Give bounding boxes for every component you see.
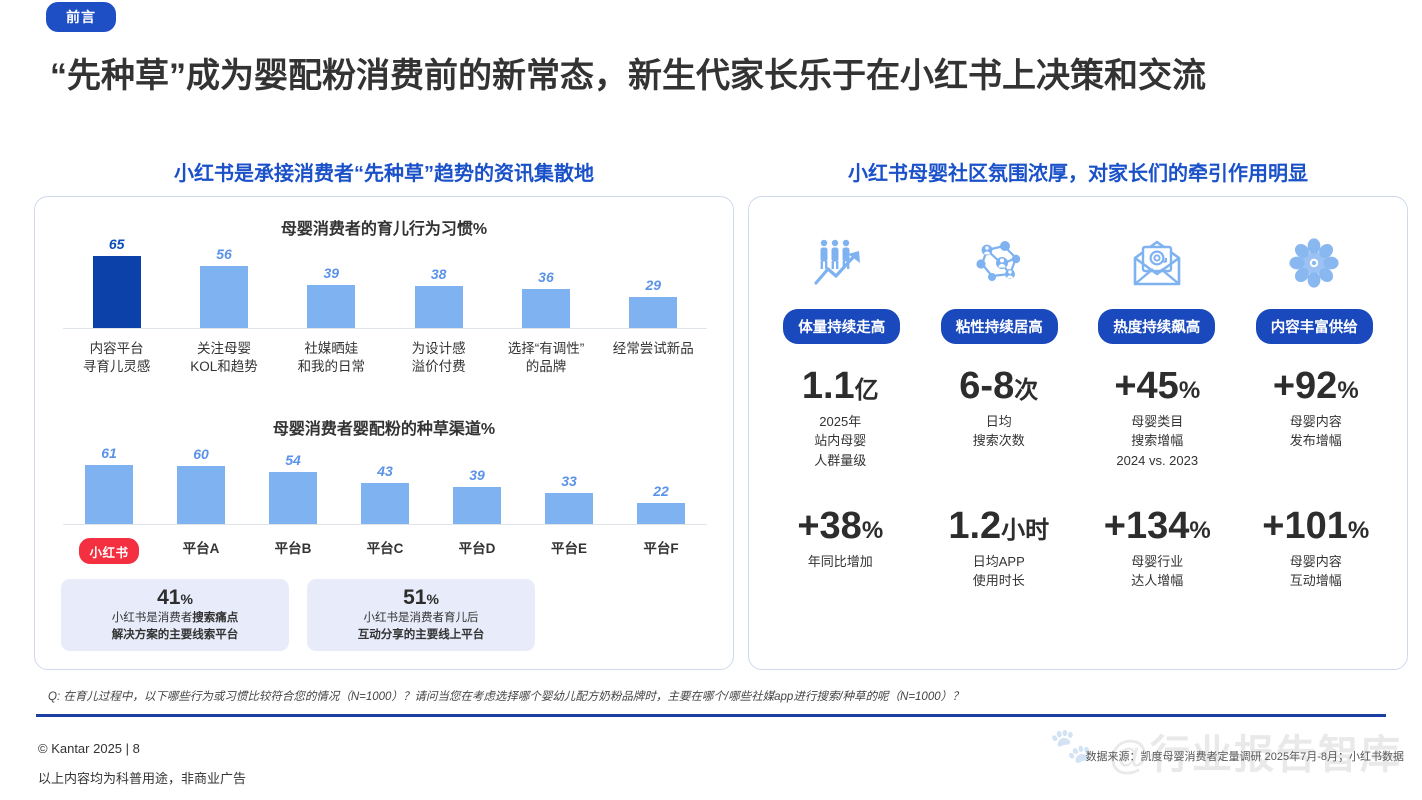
- pill-cell: 内容丰富供给: [1236, 309, 1394, 344]
- chart1-bar-value: 65: [109, 236, 125, 252]
- chart2-bar: [637, 503, 685, 525]
- chart2-labels-area: 小红书平台A平台B平台C平台D平台E平台F: [35, 533, 735, 567]
- chart2-category-label: 平台E: [551, 540, 587, 558]
- stat-row: +38%年同比增加1.2小时日均APP使用时长+134%母婴行业达人增幅+101…: [761, 507, 1395, 647]
- network-nodes-icon: [921, 231, 1079, 295]
- stat-subtitle: 日均APP使用时长: [920, 552, 1079, 591]
- chart2-bar-column: 39: [431, 445, 523, 525]
- chart1-bar-column: 65: [63, 245, 170, 329]
- right-section-heading: 小红书母婴社区氛围浓厚，对家长们的牵引作用明显: [748, 157, 1408, 186]
- chart1-bar-label: 内容平台寻育儿灵感: [63, 333, 170, 369]
- chart2-bar: [545, 493, 593, 525]
- pill-row: 体量持续走高粘性持续居高热度持续飙高内容丰富供给: [763, 309, 1393, 344]
- chart1-bar: [629, 297, 677, 329]
- kpi-chip-line1: 小红书是消费者搜索痛点: [65, 610, 285, 627]
- chart2-bar-value: 33: [561, 473, 577, 489]
- stat-subtitle: 母婴内容发布增幅: [1237, 412, 1396, 451]
- chart2-bar-column: 60: [155, 445, 247, 525]
- stat-unit: 小时: [1001, 517, 1049, 544]
- stat-number: +45%: [1078, 367, 1237, 407]
- chart2-category-label: 平台B: [275, 540, 312, 558]
- chart2-bar-value: 22: [653, 483, 669, 499]
- chart1-bar-value: 39: [324, 265, 340, 281]
- stat-subtitle: 母婴类目搜索增幅2024 vs. 2023: [1078, 412, 1237, 471]
- chart1-bar-column: 29: [600, 245, 707, 329]
- chart2-bar-value: 43: [377, 463, 393, 479]
- chart1-bar: [415, 286, 463, 329]
- chart2-bar-value: 39: [469, 467, 485, 483]
- kpi-chip-percent: %: [180, 591, 192, 607]
- disclaimer: 以上内容均为科普用途，非商业广告: [38, 768, 246, 787]
- feature-pill[interactable]: 粘性持续居高: [941, 309, 1058, 344]
- people-growth-chart-icon: [763, 231, 921, 295]
- chart2-category-label: 平台D: [459, 540, 496, 558]
- chart1-bar-label: 关注母婴KOL和趋势: [170, 333, 277, 369]
- stat-number: +92%: [1237, 367, 1396, 407]
- stat-cell: +45%母婴类目搜索增幅2024 vs. 2023: [1078, 367, 1237, 507]
- chart2-title: 母婴消费者婴配粉的种草渠道%: [35, 415, 733, 439]
- feature-pill[interactable]: 体量持续走高: [783, 309, 900, 344]
- left-panel: 母婴消费者的育儿行为习惯% 655639383629 内容平台寻育儿灵感关注母婴…: [34, 196, 734, 670]
- chart1-category-label: 关注母婴KOL和趋势: [190, 340, 258, 376]
- chart2-category-label: 平台A: [183, 540, 220, 558]
- chart1-bar-value: 38: [431, 266, 447, 282]
- section-badge: 前言: [46, 2, 116, 32]
- chart2-bar-label: 平台C: [339, 533, 431, 551]
- stat-unit: %: [1337, 377, 1358, 404]
- chart1-bar-value: 29: [646, 277, 662, 293]
- chart1-bar-column: 36: [492, 245, 599, 329]
- stat-unit: %: [1189, 517, 1210, 544]
- chart2-bar-column: 61: [63, 445, 155, 525]
- chart2-bar: [453, 487, 501, 525]
- stat-grid: 1.1亿2025年站内母婴人群量级6-8次日均搜索次数+45%母婴类目搜索增幅2…: [761, 367, 1395, 647]
- slide: 前言 “先种草”成为婴配粉消费前的新常态，新生代家长乐于在小红书上决策和交流 小…: [0, 0, 1422, 800]
- stat-number: 6-8次: [920, 367, 1079, 407]
- stat-number: +134%: [1078, 507, 1237, 547]
- icon-row: [763, 231, 1393, 295]
- kpi-chip-percent: %: [426, 591, 438, 607]
- left-section-heading: 小红书是承接消费者“先种草”趋势的资讯集散地: [34, 157, 734, 186]
- chart2-bar-column: 33: [523, 445, 615, 525]
- stat-number: +38%: [761, 507, 920, 547]
- chart1-bar-label: 选择“有调性”的品牌: [492, 333, 599, 369]
- chart1-labels-area: 内容平台寻育儿灵感关注母婴KOL和趋势社媒晒娃和我的日常为设计感溢价付费选择“有…: [35, 333, 735, 387]
- pill-cell: 粘性持续居高: [921, 309, 1079, 344]
- chart1-bar: [522, 289, 570, 329]
- feature-pill[interactable]: 内容丰富供给: [1256, 309, 1373, 344]
- footer-divider: [36, 714, 1386, 717]
- kpi-chip-value: 51%: [311, 586, 531, 610]
- pill-cell: 体量持续走高: [763, 309, 921, 344]
- chart2-bar-column: 54: [247, 445, 339, 525]
- chart2-bar-label: 平台A: [155, 533, 247, 551]
- chart1-bar-value: 56: [216, 246, 232, 262]
- kpi-chip-line2: 解决方案的主要线索平台: [65, 627, 285, 644]
- chart1-category-label: 为设计感溢价付费: [412, 340, 466, 376]
- chart2-bar-value: 61: [101, 445, 117, 461]
- stat-subtitle: 母婴内容互动增幅: [1237, 552, 1396, 591]
- chart2-category-label: 平台F: [643, 540, 678, 558]
- chart2-bars-area: 61605443393322: [35, 445, 735, 525]
- chart1-title: 母婴消费者的育儿行为习惯%: [35, 215, 733, 239]
- chart2-bar-column: 22: [615, 445, 707, 525]
- chart1-category-label: 社媒晒娃和我的日常: [298, 340, 366, 376]
- email-at-icon: [1078, 231, 1236, 295]
- chart2-bar-value: 54: [285, 452, 301, 468]
- stat-row: 1.1亿2025年站内母婴人群量级6-8次日均搜索次数+45%母婴类目搜索增幅2…: [761, 367, 1395, 507]
- chart2-bar: [177, 466, 225, 525]
- chart1-bar: [307, 285, 355, 329]
- stat-subtitle: 年同比增加: [761, 552, 920, 572]
- stat-cell: +101%母婴内容互动增幅: [1237, 507, 1396, 647]
- chart2-bar-label: 平台E: [523, 533, 615, 551]
- chart2-bar-label: 平台B: [247, 533, 339, 551]
- chart2-bar-label: 小红书: [63, 533, 155, 559]
- kpi-chip: 41%小红书是消费者搜索痛点解决方案的主要线索平台: [61, 579, 289, 651]
- flower-mandala-icon: [1236, 231, 1394, 295]
- stat-cell: 1.2小时日均APP使用时长: [920, 507, 1079, 647]
- kpi-chip: 51%小红书是消费者育儿后互动分享的主要线上平台: [307, 579, 535, 651]
- chart1-bar-column: 39: [278, 245, 385, 329]
- chart1-category-label: 内容平台寻育儿灵感: [83, 340, 151, 376]
- stat-unit: %: [1348, 517, 1369, 544]
- chart2-bar-label: 平台F: [615, 533, 707, 551]
- stat-cell: 1.1亿2025年站内母婴人群量级: [761, 367, 920, 507]
- xiaohongshu-logo: 小红书: [79, 538, 138, 564]
- stat-cell: +92%母婴内容发布增幅: [1237, 367, 1396, 507]
- stat-cell: 6-8次日均搜索次数: [920, 367, 1079, 507]
- chart1-bar-label: 为设计感溢价付费: [385, 333, 492, 369]
- kpi-chip-line2: 互动分享的主要线上平台: [311, 627, 531, 644]
- page-title: “先种草”成为婴配粉消费前的新常态，新生代家长乐于在小红书上决策和交流: [50, 48, 1390, 97]
- stat-unit: 次: [1014, 377, 1038, 404]
- chart1-bar: [200, 266, 248, 329]
- stat-unit: 亿: [855, 377, 879, 404]
- chart2-bar: [85, 465, 133, 525]
- chart1-category-label: 选择“有调性”的品牌: [508, 340, 585, 376]
- right-panel: 体量持续走高粘性持续居高热度持续飙高内容丰富供给 1.1亿2025年站内母婴人群…: [748, 196, 1408, 670]
- stat-number: 1.1亿: [761, 367, 920, 407]
- feature-pill[interactable]: 热度持续飙高: [1098, 309, 1215, 344]
- chart2-bar-label: 平台D: [431, 533, 523, 551]
- stat-cell: +38%年同比增加: [761, 507, 920, 647]
- stat-number: +101%: [1237, 507, 1396, 547]
- chart1-bar-column: 56: [170, 245, 277, 329]
- chart2-bar: [269, 472, 317, 525]
- chart2-category-label: 平台C: [367, 540, 404, 558]
- chart1-category-label: 经常尝试新品: [613, 340, 694, 358]
- chart2-bar: [361, 483, 409, 525]
- stat-subtitle: 日均搜索次数: [920, 412, 1079, 451]
- copyright: © Kantar 2025 | 8: [38, 741, 140, 756]
- chart2-bar-value: 60: [193, 446, 209, 462]
- pill-cell: 热度持续飙高: [1078, 309, 1236, 344]
- kpi-chip-value: 41%: [65, 586, 285, 610]
- footnote-question: Q: 在育儿过程中，以下哪些行为或习惯比较符合您的情况（N=1000）？请问当您…: [48, 688, 1378, 704]
- stat-unit: %: [1179, 377, 1200, 404]
- chart1-bar-column: 38: [385, 245, 492, 329]
- stat-cell: +134%母婴行业达人增幅: [1078, 507, 1237, 647]
- stat-unit: %: [862, 517, 883, 544]
- chart1-bars-area: 655639383629: [35, 245, 735, 329]
- stat-number: 1.2小时: [920, 507, 1079, 547]
- chart1-bar-label: 社媒晒娃和我的日常: [278, 333, 385, 369]
- stat-subtitle: 母婴行业达人增幅: [1078, 552, 1237, 591]
- data-source: 数据来源：凯度母婴消费者定量调研 2025年7月-8月；小红书数据: [1086, 748, 1404, 764]
- chart1-bar-label: 经常尝试新品: [600, 333, 707, 351]
- chart1-bar: [93, 256, 141, 329]
- kpi-chip-line1: 小红书是消费者育儿后: [311, 610, 531, 627]
- chart1-bar-value: 36: [538, 269, 554, 285]
- stat-subtitle: 2025年站内母婴人群量级: [761, 412, 920, 471]
- chart2-bar-column: 43: [339, 445, 431, 525]
